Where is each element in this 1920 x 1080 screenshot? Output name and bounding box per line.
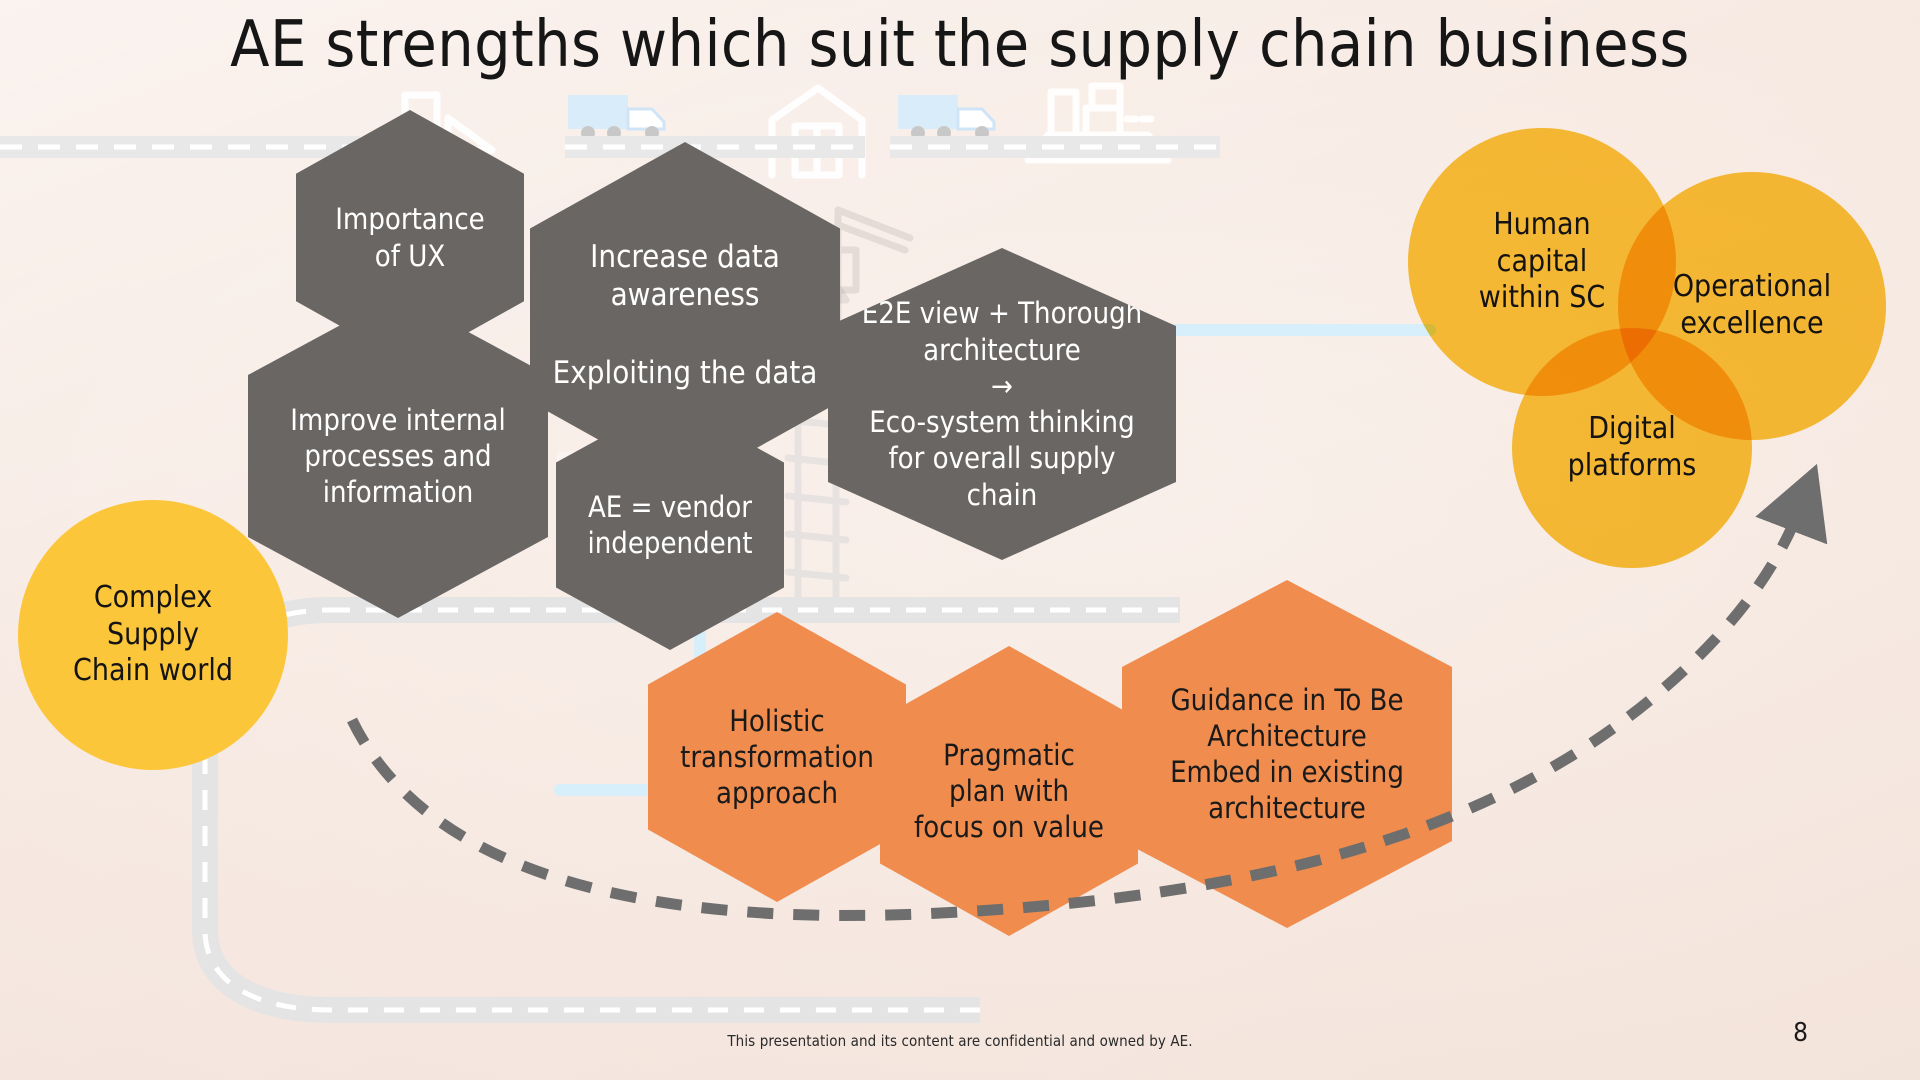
circle-digital-platforms[interactable]: Digital platforms <box>1512 328 1752 568</box>
hexagon-label: Guidance in To Be Architecture Embed in … <box>1145 682 1429 827</box>
hexagon-label: AE = vendor independent <box>572 489 768 562</box>
footer-confidentiality-note: This presentation and its content are co… <box>0 1032 1920 1050</box>
circle-label: Operational excellence <box>1673 269 1831 342</box>
hexagon-label: Holistic transformation approach <box>666 703 888 812</box>
circle-label: Digital platforms <box>1568 411 1697 484</box>
hexagon-label: Importance of UX <box>312 201 508 274</box>
warehouse-icon <box>772 88 862 175</box>
page-number: 8 <box>1793 1018 1808 1048</box>
circle-label: Complex Supply Chain world <box>73 580 233 690</box>
hexagon-label: E2E view + Thorough architecture → Eco-s… <box>852 295 1151 513</box>
slide-title: AE strengths which suit the supply chain… <box>0 8 1920 82</box>
circle-label: Human capital within SC <box>1479 207 1605 317</box>
hexagon-label: Increase data awareness Exploiting the d… <box>552 238 819 393</box>
circle-complex-supply-chain-world[interactable]: Complex Supply Chain world <box>18 500 288 770</box>
hexagon-label: Improve internal processes and informati… <box>269 402 527 511</box>
hexagon-label: Pragmatic plan with focus on value <box>898 737 1120 846</box>
